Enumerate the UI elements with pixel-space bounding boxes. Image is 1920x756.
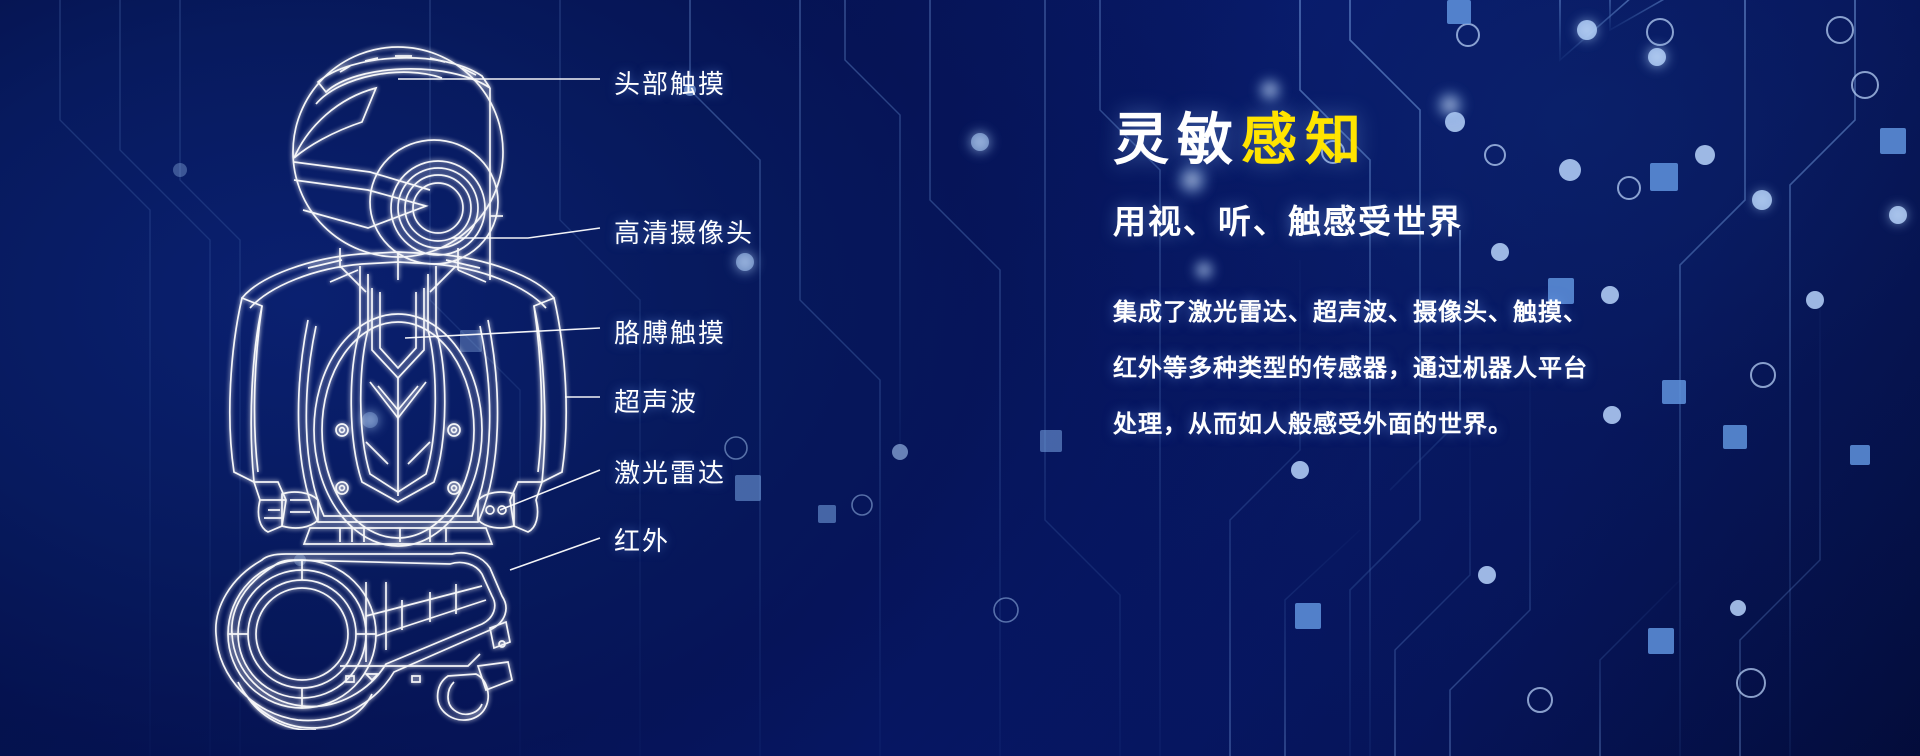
callout-arm-touch[interactable]: 胳膊触摸 bbox=[614, 313, 726, 350]
body-paragraph: 集成了激光雷达、超声波、摄像头、触摸、 红外等多种类型的传感器，通过机器人平台 … bbox=[1113, 285, 1633, 453]
callout-label: 红外 bbox=[614, 526, 670, 556]
callout-lidar[interactable]: 激光雷达 bbox=[614, 453, 726, 490]
page-title: 灵敏感知 bbox=[1113, 108, 1633, 173]
callout-hd-camera[interactable]: 高清摄像头 bbox=[614, 213, 754, 250]
callout-label: 胳膊触摸 bbox=[614, 318, 726, 348]
callout-ultrasonic[interactable]: 超声波 bbox=[614, 382, 698, 419]
title-part-white: 灵敏 bbox=[1113, 108, 1241, 171]
body-line: 处理，从而如人般感受外面的世界。 bbox=[1113, 397, 1633, 453]
page-subtitle: 用视、听、触感受世界 bbox=[1113, 195, 1633, 243]
callout-label: 高清摄像头 bbox=[614, 218, 754, 248]
title-part-yellow: 感知 bbox=[1241, 108, 1369, 171]
hero-banner: 头部触摸 高清摄像头 胳膊触摸 超声波 激光雷达 红外 灵敏感知 用视、听、触感… bbox=[0, 0, 1920, 756]
callout-head-touch[interactable]: 头部触摸 bbox=[614, 64, 726, 101]
callout-label: 头部触摸 bbox=[614, 69, 726, 99]
callout-infrared[interactable]: 红外 bbox=[614, 521, 670, 558]
callout-label: 超声波 bbox=[614, 387, 698, 417]
text-panel: 灵敏感知 用视、听、触感受世界 集成了激光雷达、超声波、摄像头、触摸、 红外等多… bbox=[1113, 108, 1633, 453]
body-line: 集成了激光雷达、超声波、摄像头、触摸、 bbox=[1113, 285, 1633, 341]
callout-label: 激光雷达 bbox=[614, 458, 726, 488]
body-line: 红外等多种类型的传感器，通过机器人平台 bbox=[1113, 341, 1633, 397]
